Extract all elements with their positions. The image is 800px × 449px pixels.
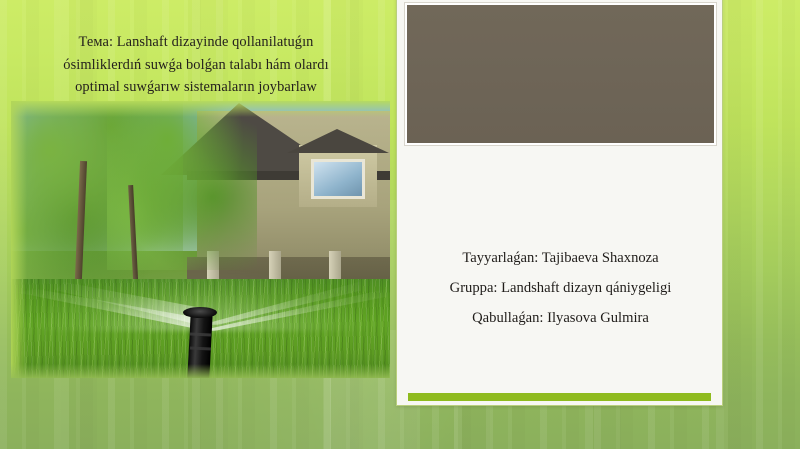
- slide-title-line-3: optimal suwǵarıw sistemaların joybarlaw: [16, 76, 376, 99]
- presentation-slide: Тема: Lanshaft dizayinde qollanilatuǵın …: [0, 0, 800, 449]
- credits-block: Tayyarlaǵan: Tajibaeva Shaxnoza Gruppa: …: [407, 243, 714, 334]
- credits-line-reviewer: Qabullaǵan: Ilyasova Gulmira: [407, 303, 714, 333]
- credits-line-author: Tayyarlaǵan: Tajibaeva Shaxnoza: [407, 243, 714, 273]
- lawn-sprinkler-photo: [11, 101, 390, 378]
- sprinkler-head-cap: [183, 307, 217, 318]
- house-window-upper: [311, 159, 365, 199]
- photo-content: [11, 101, 390, 378]
- house-dormer-roof: [287, 129, 389, 153]
- slide-title: Тема: Lanshaft dizayinde qollanilatuǵın …: [16, 31, 376, 99]
- photo-edge-fade-left: [11, 101, 27, 378]
- photo-edge-fade-bottom: [11, 364, 390, 378]
- photo-edge-fade-top: [11, 101, 390, 117]
- accent-bar: [408, 393, 711, 401]
- slide-title-line-2: ósimliklerdıń suwǵa bolǵan talabı hám ol…: [16, 54, 376, 77]
- slide-title-line-1: Тема: Lanshaft dizayinde qollanilatuǵın: [16, 31, 376, 54]
- credits-line-group: Gruppa: Landshaft dizayn qániygeligi: [407, 273, 714, 303]
- content-panel: Tayyarlaǵan: Tajibaeva Shaxnoza Gruppa: …: [396, 0, 723, 406]
- placeholder-image: [405, 3, 716, 145]
